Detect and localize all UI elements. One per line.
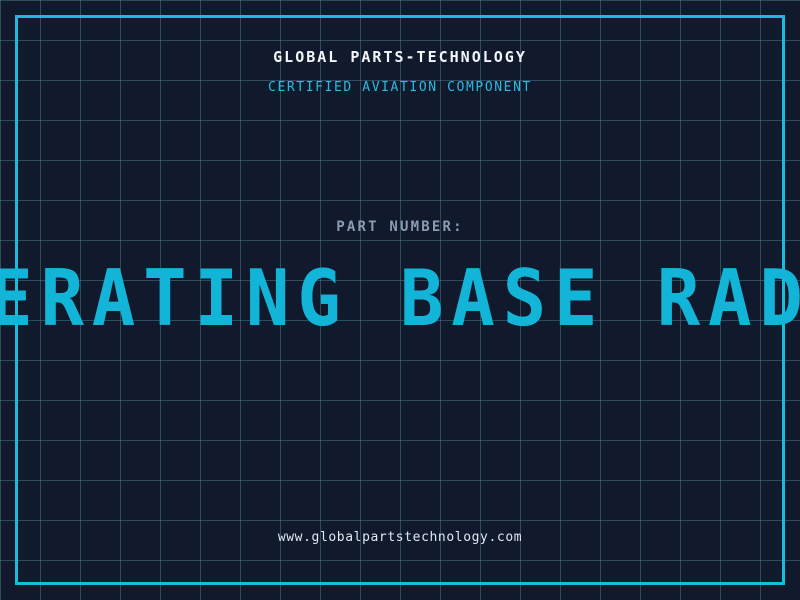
part-number-band: OPERATING BASE RADAR — [0, 255, 800, 341]
part-number-value: OPERATING BASE RADAR — [0, 259, 800, 337]
part-card: GLOBAL PARTS-TECHNOLOGY CERTIFIED AVIATI… — [0, 0, 800, 600]
website-url: www.globalpartstechnology.com — [0, 530, 800, 545]
brand-title: GLOBAL PARTS-TECHNOLOGY — [0, 48, 800, 66]
brand-subtitle: CERTIFIED AVIATION COMPONENT — [0, 80, 800, 95]
part-number-label: PART NUMBER: — [0, 219, 800, 235]
card-border-frame — [15, 15, 785, 585]
